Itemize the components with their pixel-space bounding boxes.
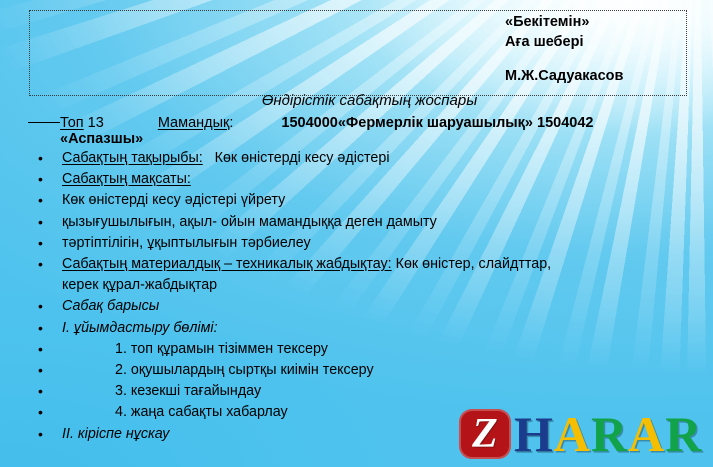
- slide-content: «Бекітемін» Аға шебері М.Ж.Садуакасов Өн…: [0, 0, 713, 467]
- specialty-code-2: 1504042: [537, 115, 593, 131]
- logo-letter-a1: A: [554, 409, 590, 459]
- item-label: Сабақтың мақсаты:: [62, 171, 191, 187]
- list-item: • тәртіптілігін, ұқыптылығын тәрбиелеу: [0, 233, 713, 254]
- list-item: • қызығушылығын, ақыл- ойын мамандыққа д…: [0, 212, 713, 233]
- bullet-icon: •: [38, 169, 43, 190]
- list-item: • Сабақ барысы: [0, 296, 713, 317]
- item-value: Көк өністерді кесу әдістері үйрету: [62, 192, 285, 208]
- list-item: • Сабақтың мақсаты:: [0, 169, 713, 190]
- specialty-code-1: 1504000«Фермерлік шаруашылық»: [281, 115, 533, 131]
- bullet-icon: •: [38, 254, 43, 275]
- bullet-icon: •: [38, 148, 43, 169]
- list-item: • Көк өністерді кесу әдістері үйрету: [0, 190, 713, 211]
- item-value: I. ұйымдастыру бөлімі:: [62, 320, 218, 336]
- approval-line-1: «Бекітемін»: [505, 12, 623, 32]
- list-item: • 2. оқушылардың сыртқы киімін тексеру: [0, 360, 713, 381]
- bullet-icon: •: [38, 360, 43, 381]
- logo-letter-z: Z: [472, 413, 498, 455]
- item-value: Көк өністер, слайдттар,: [396, 256, 552, 272]
- bullet-icon: •: [38, 424, 43, 445]
- item-label: Сабақтың материалдық – техникалық жабдық…: [62, 256, 392, 272]
- approval-line-2: Аға шебері: [505, 32, 623, 52]
- item-value: 2. оқушылардың сыртқы киімін тексеру: [115, 362, 374, 378]
- bullet-icon: •: [38, 296, 43, 317]
- list-item: • 1. топ құрамын тізіммен тексеру: [0, 339, 713, 360]
- logo-letter-h: H: [514, 409, 553, 459]
- item-value: Сабақ барысы: [62, 298, 159, 314]
- leading-rule: [28, 122, 60, 123]
- bullet-icon: •: [38, 381, 43, 402]
- item-value: 4. жаңа сабақты хабарлау: [115, 404, 288, 420]
- list-item: • 3. кезекші тағайындау: [0, 381, 713, 402]
- specialty-name: «Аспазшы»: [60, 131, 143, 147]
- approval-spacer: [505, 52, 623, 66]
- bullet-icon: •: [38, 212, 43, 233]
- logo-letter-a2: A: [628, 409, 664, 459]
- zharar-logo: Z H A R A R: [459, 406, 701, 462]
- item-label: Сабақтың тақырыбы:: [62, 150, 203, 166]
- list-item: • I. ұйымдастыру бөлімі:: [0, 318, 713, 339]
- item-value: қызығушылығын, ақыл- ойын мамандыққа дег…: [62, 214, 437, 230]
- group-specialty-line: Топ 13Мамандық:1504000«Фермерлік шаруашы…: [28, 113, 698, 133]
- list-item: • Сабақтың тақырыбы: Көк өністерді кесу …: [0, 148, 713, 169]
- specialty-label: Мамандық: [158, 115, 230, 131]
- item-continuation: керек құрал-жабдықтар: [0, 275, 713, 296]
- bullet-icon: •: [38, 318, 43, 339]
- group-label: Топ: [60, 115, 84, 131]
- logo-letter-r1: R: [591, 409, 627, 459]
- slide-canvas: «Бекітемін» Аға шебері М.Ж.Садуакасов Өн…: [0, 0, 713, 467]
- item-value: II. кіріспе нұскау: [62, 426, 169, 442]
- document-title: Өндірістік сабақтың жоспары: [0, 92, 713, 109]
- bullet-list: • Сабақтың тақырыбы: Көк өністерді кесу …: [0, 148, 713, 445]
- item-value: 1. топ құрамын тізіммен тексеру: [115, 341, 328, 357]
- group-number: 13: [88, 115, 104, 131]
- item-value: 3. кезекші тағайындау: [115, 383, 261, 399]
- approval-block: «Бекітемін» Аға шебері М.Ж.Садуакасов: [505, 12, 623, 86]
- item-value: Көк өністерді кесу әдістері: [215, 150, 390, 166]
- bullet-icon: •: [38, 402, 43, 423]
- list-item: • Сабақтың материалдық – техникалық жабд…: [0, 254, 713, 275]
- logo-badge-z: Z: [459, 409, 511, 459]
- bullet-icon: •: [38, 233, 43, 254]
- bullet-icon: •: [38, 190, 43, 211]
- specialty-colon: :: [229, 115, 233, 131]
- logo-letter-r2: R: [665, 409, 701, 459]
- item-value: тәртіптілігін, ұқыптылығын тәрбиелеу: [62, 235, 311, 251]
- approval-line-3: М.Ж.Садуакасов: [505, 66, 623, 86]
- bullet-icon: •: [38, 339, 43, 360]
